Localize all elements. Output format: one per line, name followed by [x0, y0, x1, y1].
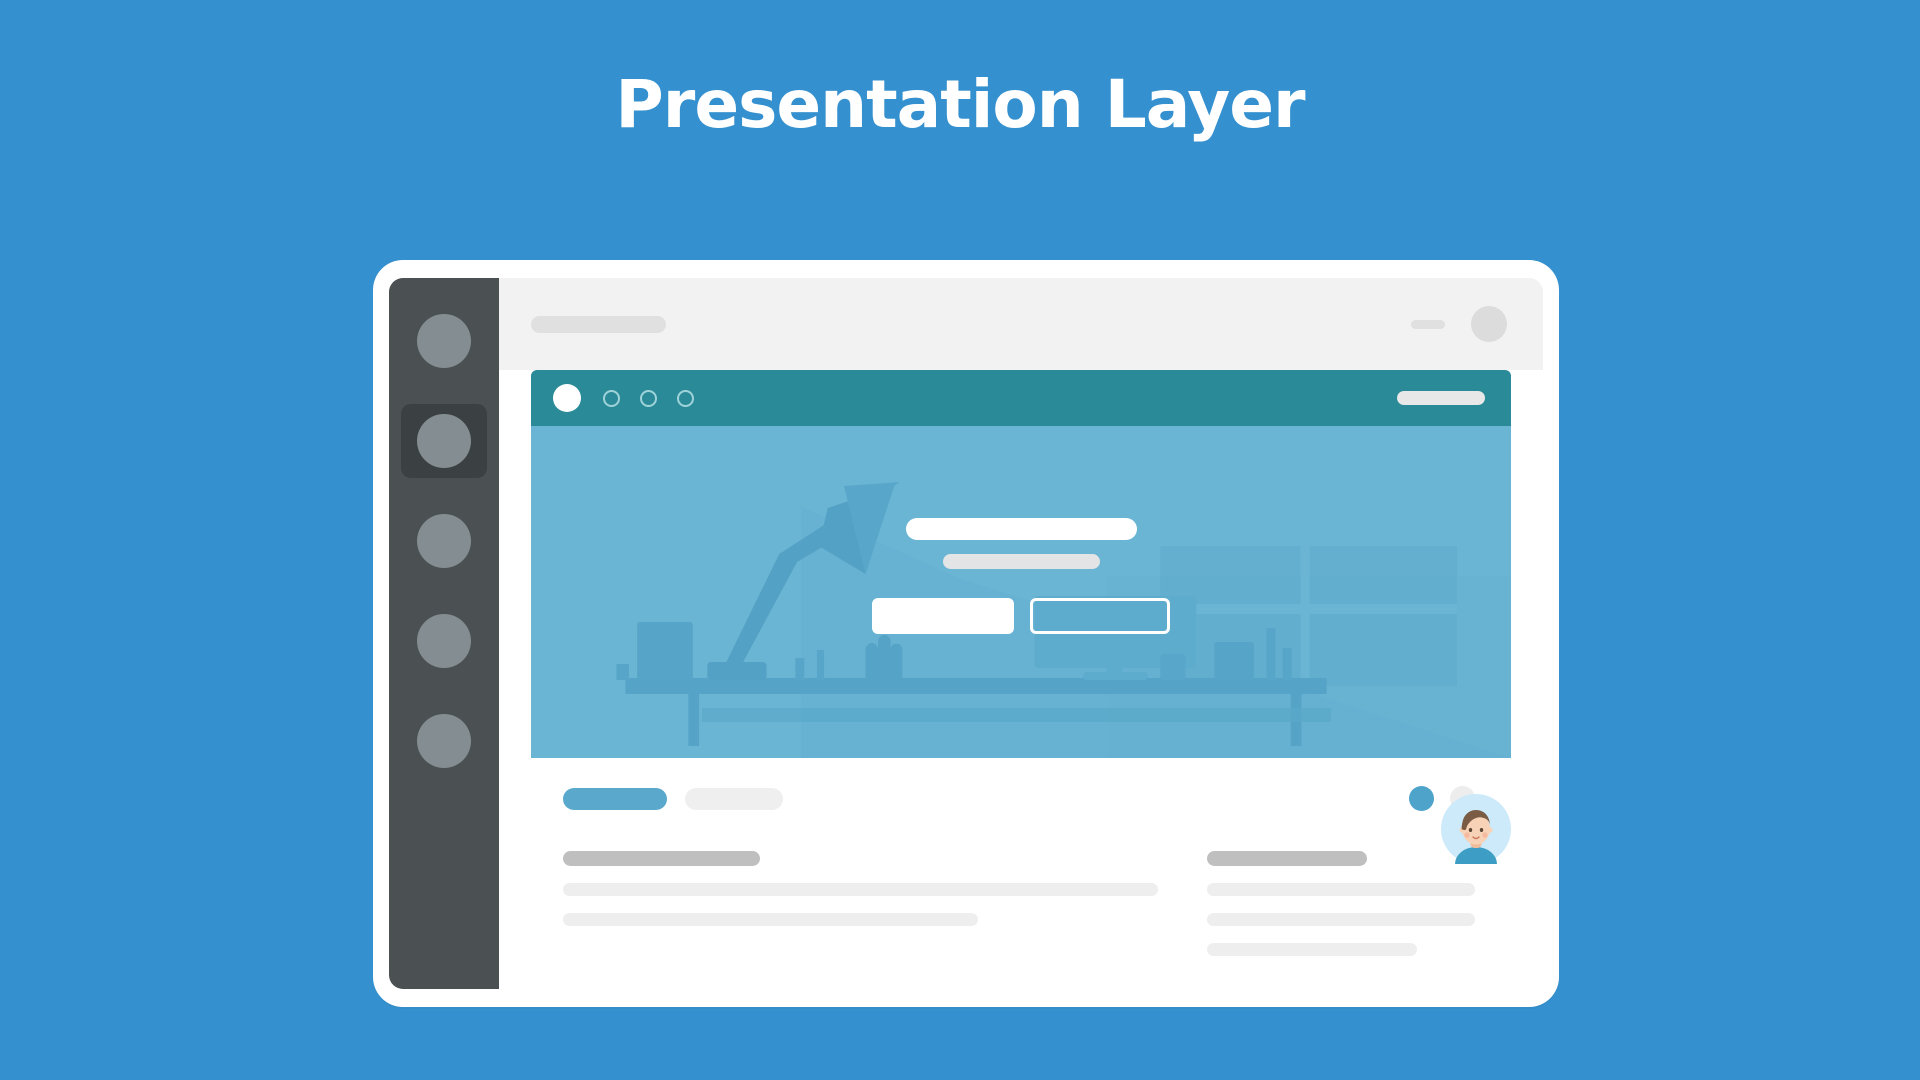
right-text-line	[1207, 943, 1417, 956]
filled-circle-icon[interactable]	[553, 384, 581, 412]
avatar-illustration	[1441, 794, 1511, 864]
sidebar-item-1[interactable]	[401, 304, 487, 378]
outline-circle-icon[interactable]	[640, 390, 657, 407]
sidebar-item-3[interactable]	[401, 504, 487, 578]
sidebar-item-5[interactable]	[401, 704, 487, 778]
minimize-icon[interactable]	[1411, 320, 1445, 329]
circle-icon	[417, 314, 471, 368]
circle-icon	[417, 714, 471, 768]
sidebar-item-4[interactable]	[401, 604, 487, 678]
content-section	[531, 758, 1511, 989]
address-bar[interactable]	[1397, 391, 1485, 405]
page-root: Presentation Layer	[0, 0, 1920, 1080]
hero-button-group	[872, 598, 1170, 634]
hero-section	[531, 426, 1511, 758]
circle-icon	[417, 614, 471, 668]
tablet-screen	[389, 278, 1543, 989]
page-title: Presentation Layer	[0, 66, 1920, 143]
content-tab-secondary[interactable]	[685, 788, 783, 810]
content-tab-primary[interactable]	[563, 788, 667, 810]
left-text-line	[563, 913, 978, 926]
outline-circle-icon[interactable]	[603, 390, 620, 407]
hero-headline-placeholder	[906, 518, 1137, 540]
os-sidebar	[389, 278, 499, 989]
content-tab-row	[563, 786, 1475, 811]
hero-secondary-button[interactable]	[1030, 598, 1170, 634]
app-header	[499, 278, 1543, 370]
pager-dot-1[interactable]	[1409, 786, 1434, 811]
user-avatar[interactable]	[1441, 794, 1511, 864]
account-circle-icon[interactable]	[1471, 306, 1507, 342]
hero-primary-button[interactable]	[872, 598, 1014, 634]
content-columns	[563, 851, 1475, 956]
content-right-column	[1207, 851, 1475, 956]
hero-subheadline-placeholder	[943, 554, 1100, 569]
right-text-line	[1207, 883, 1475, 896]
right-heading-placeholder	[1207, 851, 1367, 866]
content-left-column	[563, 851, 1158, 956]
browser-tab-bar	[531, 370, 1511, 426]
hero-content	[531, 518, 1511, 634]
column-gap	[1158, 851, 1207, 956]
left-text-line	[563, 883, 1158, 896]
outline-circle-icon[interactable]	[677, 390, 694, 407]
circle-icon	[417, 414, 471, 468]
sidebar-item-2[interactable]	[401, 404, 487, 478]
browser-tab-list	[603, 390, 694, 407]
application-window	[499, 278, 1543, 989]
right-text-line	[1207, 913, 1475, 926]
browser-window	[531, 370, 1511, 989]
app-title-placeholder	[531, 316, 666, 333]
circle-icon	[417, 514, 471, 568]
tablet-device-frame	[373, 260, 1559, 1007]
left-heading-placeholder	[563, 851, 760, 866]
